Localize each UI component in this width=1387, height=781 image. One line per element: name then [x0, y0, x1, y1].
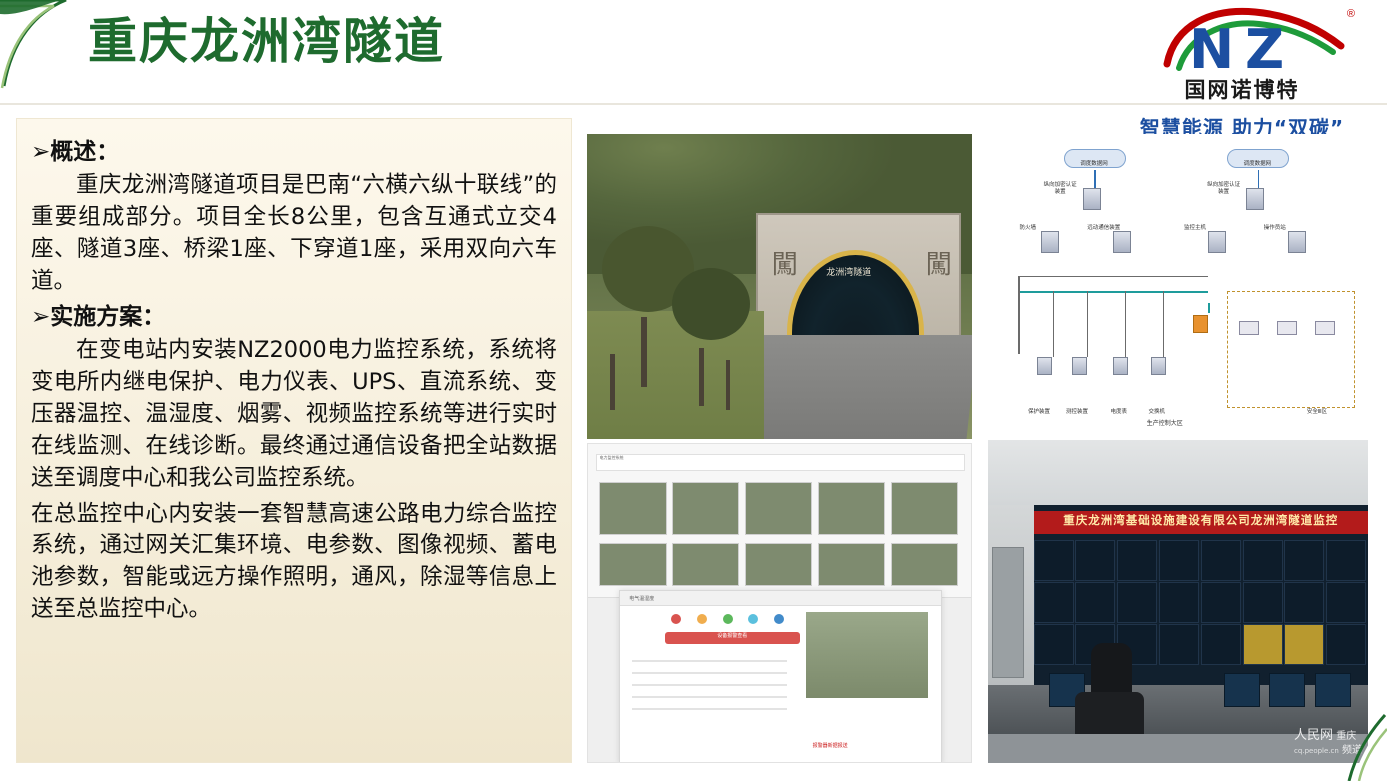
- logo-company-name: 国网诺博特: [1127, 74, 1357, 104]
- encryption-label-right: 纵向加密认证装置: [1205, 182, 1243, 195]
- camera-thumbnail: [745, 482, 812, 535]
- device-label: 电度表: [1106, 409, 1132, 415]
- encryption-device-left: [1083, 188, 1101, 210]
- video-wall-tile: [1284, 624, 1324, 665]
- description-panel: ➢概述： 重庆龙洲湾隧道项目是巴南“六横六纵十联线”的重要组成部分。项目全长8公…: [16, 118, 572, 763]
- status-indicator: [748, 614, 758, 624]
- desk-monitor: [1315, 673, 1351, 707]
- watermark-sub1: 重庆: [1336, 731, 1356, 742]
- roadway: [728, 335, 972, 439]
- server-node: [1208, 231, 1226, 253]
- camera-thumbnail: [672, 543, 739, 586]
- implementation-body-2: 在总监控中心内安装一套智慧高速公路电力综合监控系统，通过网关汇集环境、电参数、图…: [31, 499, 557, 627]
- safe-zone-label: 安全Ⅲ区: [1292, 409, 1342, 415]
- drop-line: [1053, 291, 1055, 357]
- divider: [632, 708, 786, 710]
- status-indicator: [723, 614, 733, 624]
- alarm-button[interactable]: 设备报警查看: [665, 632, 800, 644]
- video-wall-tile: [1034, 624, 1074, 665]
- measurement-device: [1113, 357, 1128, 375]
- camera-thumbnail: [818, 482, 885, 535]
- registered-trademark-icon: ®: [1347, 8, 1355, 20]
- device-label: 交换机: [1144, 409, 1170, 415]
- tunnel-name-sign: 龙洲湾隧道: [810, 265, 887, 292]
- status-indicator: [774, 614, 784, 624]
- desk-monitor: [1224, 673, 1260, 707]
- network-topology-diagram: 调度数据网 调度数据网 纵向加密认证装置 纵向加密认证装置 防火墙 远动通信装置…: [988, 134, 1368, 436]
- slide-header: 重庆龙洲湾隧道 N Z ® 国网诺博特 智慧能源 助力“双碳”: [0, 0, 1387, 104]
- dialog-titlebar: [620, 591, 942, 606]
- control-room-photo: 重庆龙洲湾基础设施建设有限公司龙洲湾隧道监控 人民网 重庆 cq.people.…: [988, 440, 1368, 763]
- node-label: 操作员站: [1258, 225, 1292, 231]
- window-title-label: 电力监控系统: [599, 455, 623, 461]
- tree-trunk: [699, 348, 704, 406]
- video-wall-tile: [1326, 582, 1366, 623]
- encryption-device-right: [1246, 188, 1264, 210]
- protection-device: [1072, 357, 1087, 375]
- overview-heading: ➢概述：: [31, 137, 557, 168]
- video-wall-tile: [1117, 582, 1157, 623]
- divider: [632, 696, 786, 698]
- video-wall-tile: [1201, 540, 1241, 581]
- production-zone-label: 生产控制大区: [1125, 421, 1205, 428]
- tree-trunk: [610, 354, 615, 410]
- bus-line-vertical: [1018, 276, 1020, 355]
- drop-line: [1163, 291, 1165, 357]
- implementation-heading: ➢实施方案：: [31, 302, 557, 333]
- tunnel-entrance-photo: 龙洲湾隧道 闖 闖: [587, 134, 972, 439]
- screenshot-toolbar: [596, 454, 966, 472]
- divider: [632, 660, 786, 662]
- drop-line: [1087, 291, 1089, 357]
- site-photo: [806, 612, 928, 698]
- video-wall-tile: [1201, 624, 1241, 665]
- portal-right-character: 闖: [926, 244, 952, 281]
- video-wall-tile: [1243, 582, 1283, 623]
- video-wall-tile: [1117, 540, 1157, 581]
- protection-device: [1037, 357, 1052, 375]
- camera-thumbnail: [599, 543, 666, 586]
- watermark-url: cq.people.cn: [1294, 747, 1339, 755]
- watermark: 人民网 重庆 cq.people.cn 频道: [1294, 728, 1362, 757]
- video-wall-tile: [1075, 540, 1115, 581]
- server-node: [1041, 231, 1059, 253]
- video-wall-tile: [1159, 540, 1199, 581]
- status-indicator: [697, 614, 707, 624]
- safe-zone-server: [1277, 321, 1297, 335]
- safe-zone-server: [1315, 321, 1335, 335]
- watermark-sub2: 频道: [1342, 745, 1362, 756]
- company-logo: N Z ® 国网诺博特 智慧能源 助力“双碳”: [1127, 6, 1357, 128]
- video-wall-tile: [1326, 624, 1366, 665]
- footer-note: 报警器新据报送: [813, 742, 848, 749]
- camera-thumbnail: [891, 482, 958, 535]
- page-title: 重庆龙洲湾隧道: [88, 14, 445, 70]
- cloud-label-left: 调度数据网: [1064, 161, 1124, 167]
- camera-thumbnail: [745, 543, 812, 586]
- gateway-device: [1193, 315, 1208, 333]
- bus-line-horizontal: [1018, 276, 1208, 278]
- portal-left-character: 闖: [772, 244, 798, 281]
- video-wall-tile: [1201, 582, 1241, 623]
- dialog-title: 电气温湿度: [629, 595, 654, 602]
- bus-line-horizontal: [1018, 291, 1208, 293]
- watermark-main: 人民网: [1294, 728, 1333, 743]
- svg-text:N: N: [1189, 18, 1234, 78]
- video-wall-tile: [1284, 582, 1324, 623]
- tree-trunk: [641, 317, 647, 387]
- status-indicator: [671, 614, 681, 624]
- server-node: [1288, 231, 1306, 253]
- video-wall-tile: [1243, 540, 1283, 581]
- node-label: 远动通信装置: [1087, 225, 1121, 231]
- server-node: [1113, 231, 1131, 253]
- video-wall-tile: [1034, 582, 1074, 623]
- video-wall-tile: [1159, 582, 1199, 623]
- divider: [632, 684, 786, 686]
- safe-zone-boundary: [1227, 291, 1354, 408]
- monitoring-software-screenshot: 电力监控系统 电气温湿度 设备报警查看 报警器新据报送: [587, 443, 972, 763]
- encryption-label-left: 纵向加密认证装置: [1041, 182, 1079, 195]
- device-label: 保护装置: [1026, 409, 1052, 415]
- device-label: 测控装置: [1064, 409, 1090, 415]
- camera-thumbnail: [672, 482, 739, 535]
- camera-thumbnail: [599, 482, 666, 535]
- door: [992, 547, 1024, 678]
- connector: [1208, 303, 1210, 313]
- node-label: 防火墙: [1011, 225, 1045, 231]
- video-wall-tile: [1034, 540, 1074, 581]
- video-wall-tile: [1326, 540, 1366, 581]
- implementation-body: 在变电站内安装NZ2000电力监控系统，系统将变电所内继电保护、电力仪表、UPS…: [31, 335, 557, 495]
- safe-zone-server: [1239, 321, 1259, 335]
- node-label: 监控主机: [1178, 225, 1212, 231]
- overview-body: 重庆龙洲湾隧道项目是巴南“六横六纵十联线”的重要组成部分。项目全长8公里，包含互…: [31, 170, 557, 298]
- tree-canopy: [672, 268, 750, 340]
- video-wall-tile: [1159, 624, 1199, 665]
- video-wall-banner: 重庆龙洲湾基础设施建设有限公司龙洲湾隧道监控: [1026, 511, 1368, 534]
- video-wall-tile: [1075, 582, 1115, 623]
- drop-line: [1125, 291, 1127, 357]
- camera-thumbnail: [891, 543, 958, 586]
- cloud-label-right: 调度数据网: [1227, 161, 1287, 167]
- meter-device: [1151, 357, 1166, 375]
- svg-text:Z: Z: [1245, 18, 1284, 78]
- logo-mark: N Z ®: [1127, 6, 1357, 78]
- weather-monitor-dialog: 电气温湿度 设备报警查看 报警器新据报送: [619, 590, 943, 763]
- divider: [632, 672, 786, 674]
- video-wall-tile: [1243, 624, 1283, 665]
- camera-thumbnail: [818, 543, 885, 586]
- desk-monitor: [1269, 673, 1305, 707]
- video-wall-tile: [1284, 540, 1324, 581]
- tree-trunk: [726, 360, 730, 410]
